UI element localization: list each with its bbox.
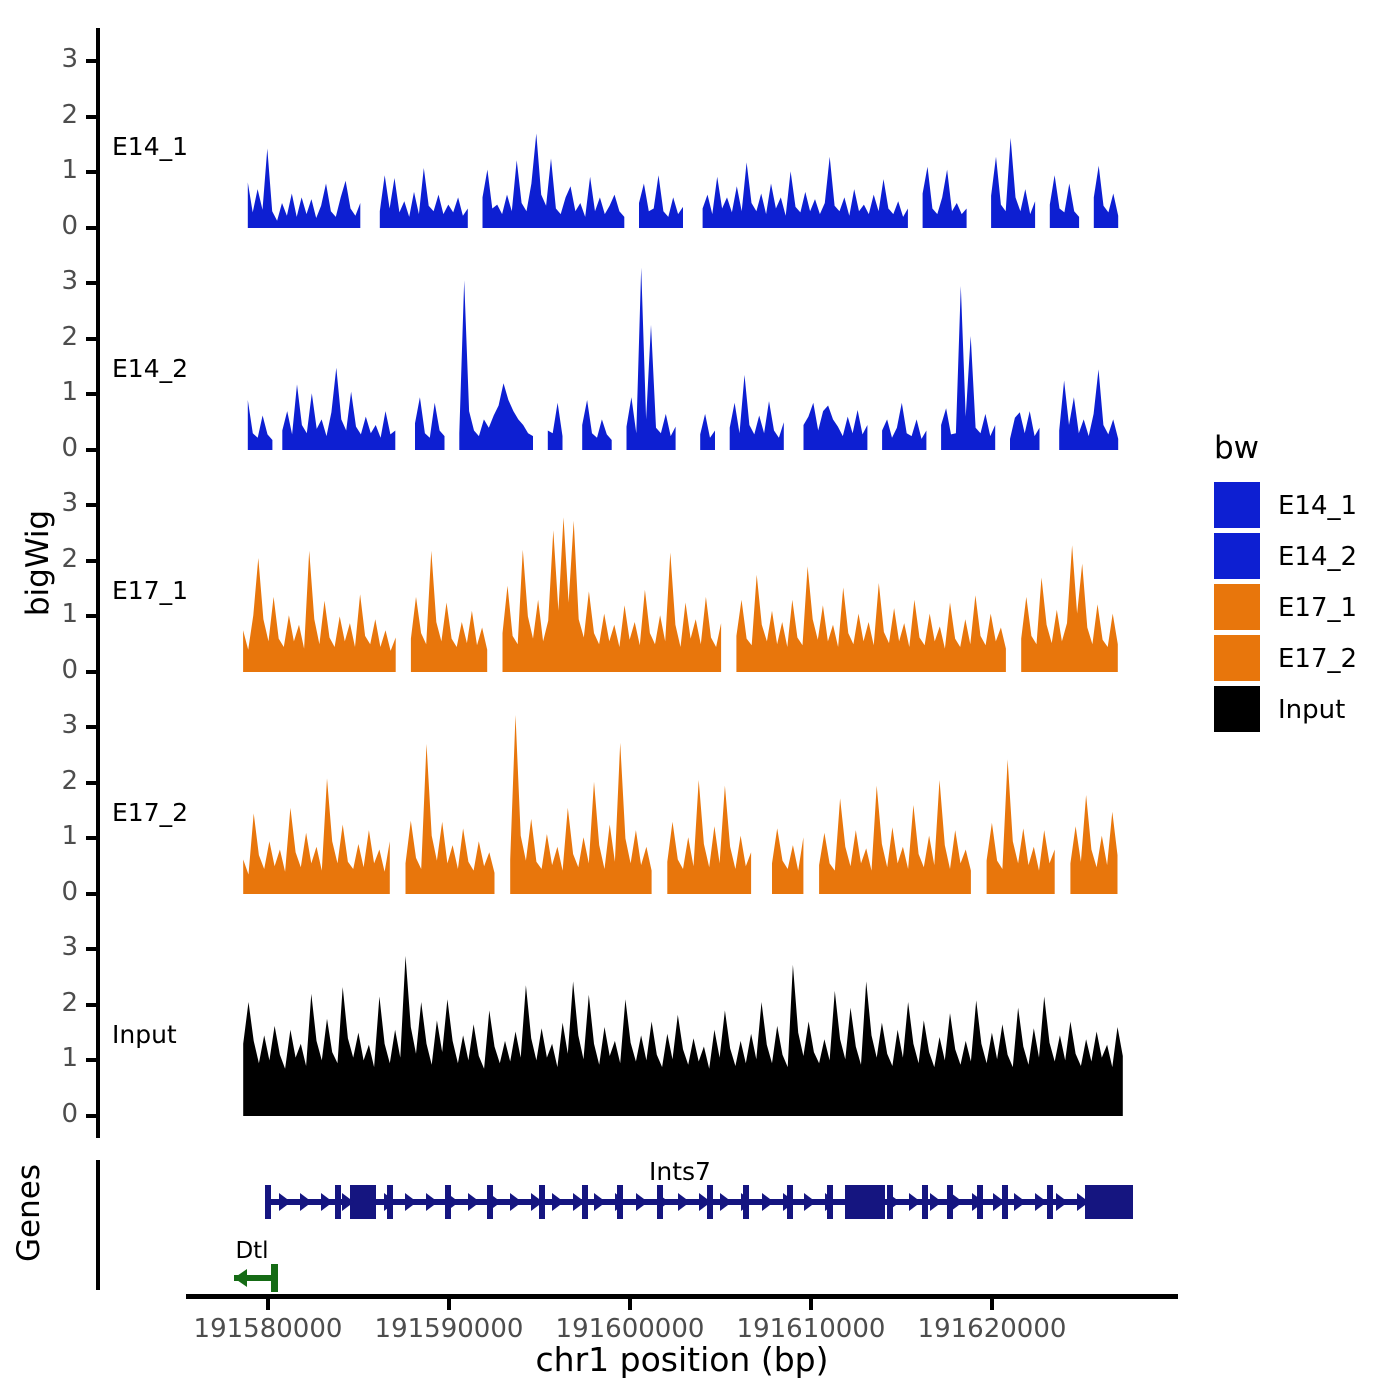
gene-strand-arrow [405, 1193, 417, 1211]
gene-strand-arrow [510, 1193, 522, 1211]
y-tick-mark [86, 781, 96, 785]
panel-label-e14-1: E14_1 [112, 132, 188, 161]
gene-exon-tick [265, 1185, 271, 1219]
gene-strand-arrow [426, 1193, 438, 1211]
gene-strand-arrow [447, 1193, 459, 1211]
x-tick-label: 191610000 [711, 1314, 911, 1344]
gene-strand-arrow [909, 1193, 921, 1211]
y-tick-mark [86, 448, 96, 452]
legend-swatch-e17-1 [1214, 584, 1260, 630]
signal-track-e14-2 [238, 250, 1130, 476]
y-tick-label: 2 [34, 988, 78, 1018]
legend-label-e17-1: E17_1 [1278, 593, 1357, 623]
gene-strand-arrow [762, 1193, 774, 1211]
legend-label-e14-2: E14_2 [1278, 542, 1357, 572]
gene-strand-arrow [321, 1193, 333, 1211]
y-tick-mark [86, 1114, 96, 1118]
x-tick-mark [809, 1299, 813, 1310]
y-axis-title-genes: Genes [11, 1148, 47, 1278]
gene-exon-tick [1047, 1185, 1053, 1219]
y-tick-label: 1 [34, 821, 78, 851]
x-tick-mark [447, 1299, 451, 1310]
y-tick-mark [86, 503, 96, 507]
gene-exon-tick [922, 1185, 928, 1219]
signal-track-input [238, 916, 1130, 1142]
y-tick-mark [86, 670, 96, 674]
y-tick-label: 1 [34, 155, 78, 185]
x-tick-mark [990, 1299, 994, 1310]
gene-strand-arrow [1014, 1193, 1026, 1211]
gene-strand-arrow [468, 1193, 480, 1211]
gene-strand-arrow [279, 1193, 291, 1211]
y-tick-label: 2 [34, 766, 78, 796]
y-tick-mark [86, 947, 96, 951]
y-tick-label: 1 [34, 377, 78, 407]
panel-label-e14-2: E14_2 [112, 354, 188, 383]
y-tick-label: 3 [34, 710, 78, 740]
gene-strand-arrow [678, 1193, 690, 1211]
legend-label-e17-2: E17_2 [1278, 644, 1357, 674]
y-tick-label: 1 [34, 1043, 78, 1073]
y-tick-label: 0 [34, 211, 78, 241]
gene-label-ints7: Ints7 [649, 1160, 711, 1186]
panel-label-input: Input [112, 1020, 177, 1049]
panel-input-y-axis-spine [96, 916, 100, 1138]
legend-swatch-input [1214, 686, 1260, 732]
x-axis-line [186, 1294, 1178, 1299]
genes-axis-spine [96, 1160, 100, 1290]
y-tick-mark [86, 281, 96, 285]
gene-exon-block [845, 1185, 885, 1219]
dtl-strand-arrow [234, 1269, 247, 1287]
gene-strand-arrow [1035, 1193, 1047, 1211]
y-tick-mark [86, 337, 96, 341]
signal-track-e17-1 [238, 472, 1130, 698]
y-tick-label: 2 [34, 100, 78, 130]
gene-exon-tick [335, 1185, 341, 1219]
y-tick-mark [86, 226, 96, 230]
x-tick-mark [628, 1299, 632, 1310]
y-tick-mark [86, 170, 96, 174]
y-tick-mark [86, 559, 96, 563]
gene-strand-arrow [1056, 1193, 1068, 1211]
y-tick-mark [86, 392, 96, 396]
gene-strand-arrow [594, 1193, 606, 1211]
x-axis-title: chr1 position (bp) [186, 1340, 1178, 1379]
panel-label-e17-2: E17_2 [112, 798, 188, 827]
gene-label-dtl: Dtl [235, 1238, 268, 1264]
y-tick-mark [86, 725, 96, 729]
y-tick-label: 0 [34, 655, 78, 685]
y-tick-label: 3 [34, 932, 78, 962]
gene-strand-arrow [300, 1193, 312, 1211]
y-tick-label: 0 [34, 877, 78, 907]
y-tick-label: 0 [34, 433, 78, 463]
gene-strand-arrow [720, 1193, 732, 1211]
dtl-gene-exon [271, 1264, 278, 1292]
gene-strand-arrow [888, 1193, 900, 1211]
y-tick-mark [86, 1003, 96, 1007]
gene-models: Ints7Dtl [190, 1160, 1190, 1310]
x-tick-label: 191620000 [892, 1314, 1092, 1344]
y-tick-label: 3 [34, 266, 78, 296]
x-tick-label: 191600000 [530, 1314, 730, 1344]
gene-strand-arrow [636, 1193, 648, 1211]
legend-swatch-e14-2 [1214, 533, 1260, 579]
y-tick-mark [86, 115, 96, 119]
y-tick-mark [86, 836, 96, 840]
y-tick-label: 0 [34, 1099, 78, 1129]
legend-label-input: Input [1278, 695, 1345, 725]
signal-track-e14-1 [238, 28, 1130, 254]
legend-title: bw [1214, 430, 1259, 466]
y-tick-label: 1 [34, 599, 78, 629]
gene-strand-arrow [489, 1193, 501, 1211]
gene-strand-arrow [930, 1193, 942, 1211]
legend-swatch-e14-1 [1214, 482, 1260, 528]
legend-swatch-e17-2 [1214, 635, 1260, 681]
panel-e14-2-y-axis-spine [96, 250, 100, 472]
panel-label-e17-1: E17_1 [112, 576, 188, 605]
panel-e17-1-y-axis-spine [96, 472, 100, 694]
gene-strand-arrow [804, 1193, 816, 1211]
y-tick-label: 3 [34, 488, 78, 518]
y-tick-label: 2 [34, 322, 78, 352]
panel-e14-1-y-axis-spine [96, 28, 100, 250]
y-tick-mark [86, 1058, 96, 1062]
y-tick-label: 3 [34, 44, 78, 74]
signal-track-e17-2 [238, 694, 1130, 920]
gene-exon-block [1085, 1185, 1133, 1219]
y-tick-mark [86, 59, 96, 63]
panel-e17-2-y-axis-spine [96, 694, 100, 916]
legend-label-e14-1: E14_1 [1278, 491, 1357, 521]
gene-strand-arrow [951, 1193, 963, 1211]
y-tick-label: 2 [34, 544, 78, 574]
x-tick-label: 191580000 [168, 1314, 368, 1344]
y-tick-mark [86, 614, 96, 618]
gene-strand-arrow [552, 1193, 564, 1211]
y-tick-mark [86, 892, 96, 896]
x-tick-mark [266, 1299, 270, 1310]
x-tick-label: 191590000 [349, 1314, 549, 1344]
